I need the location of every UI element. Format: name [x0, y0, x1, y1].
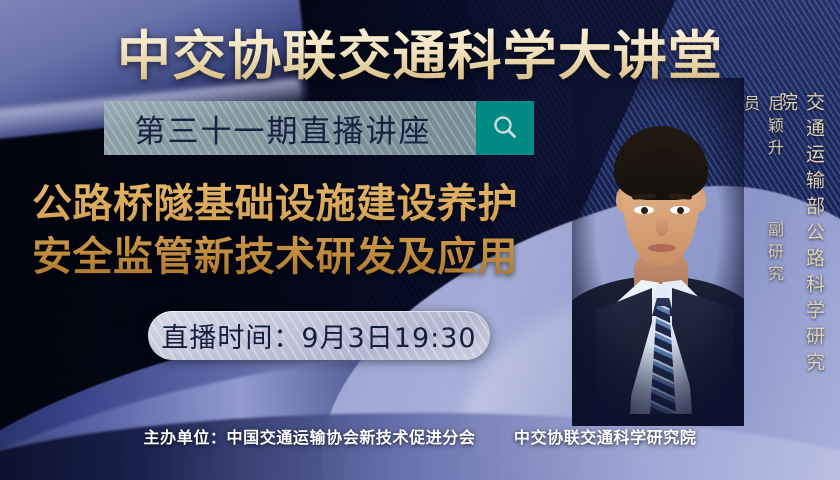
portrait-vignette	[572, 78, 744, 426]
episode-label: 第三十一期直播讲座	[135, 106, 446, 151]
subtitle-line-2: 安全监管新技术研发及应用	[32, 231, 572, 284]
organizer-footer: 主办单位：中国交通运输协会新技术促进分会 中交协联交通科学研究院	[0, 424, 840, 448]
search-input[interactable]: 第三十一期直播讲座	[104, 101, 476, 155]
search-icon	[490, 113, 520, 143]
speaker-portrait	[572, 78, 744, 426]
search-button[interactable]	[476, 101, 534, 155]
speaker-name-title: 尼颖升 副研究员	[738, 95, 786, 295]
organizer-secondary: 中交协联交通科学研究院	[514, 428, 697, 447]
lecture-subtitle: 公路桥隧基础设施建设养护 安全监管新技术研发及应用	[32, 178, 572, 284]
subtitle-line-1: 公路桥隧基础设施建设养护	[32, 178, 572, 231]
organizer-primary: 主办单位：中国交通运输协会新技术促进分会	[144, 428, 476, 447]
episode-search-bar[interactable]: 第三十一期直播讲座	[104, 101, 534, 155]
speaker-name: 尼颖升	[765, 95, 784, 161]
broadcast-time-text: 直播时间：9月3日19:30	[161, 316, 476, 355]
broadcast-time-badge: 直播时间：9月3日19:30	[148, 311, 490, 360]
live-stream-poster: 中交协联交通科学大讲堂 第三十一期直播讲座 公路桥隧基础设施建设养护 安全监管新…	[0, 0, 840, 480]
